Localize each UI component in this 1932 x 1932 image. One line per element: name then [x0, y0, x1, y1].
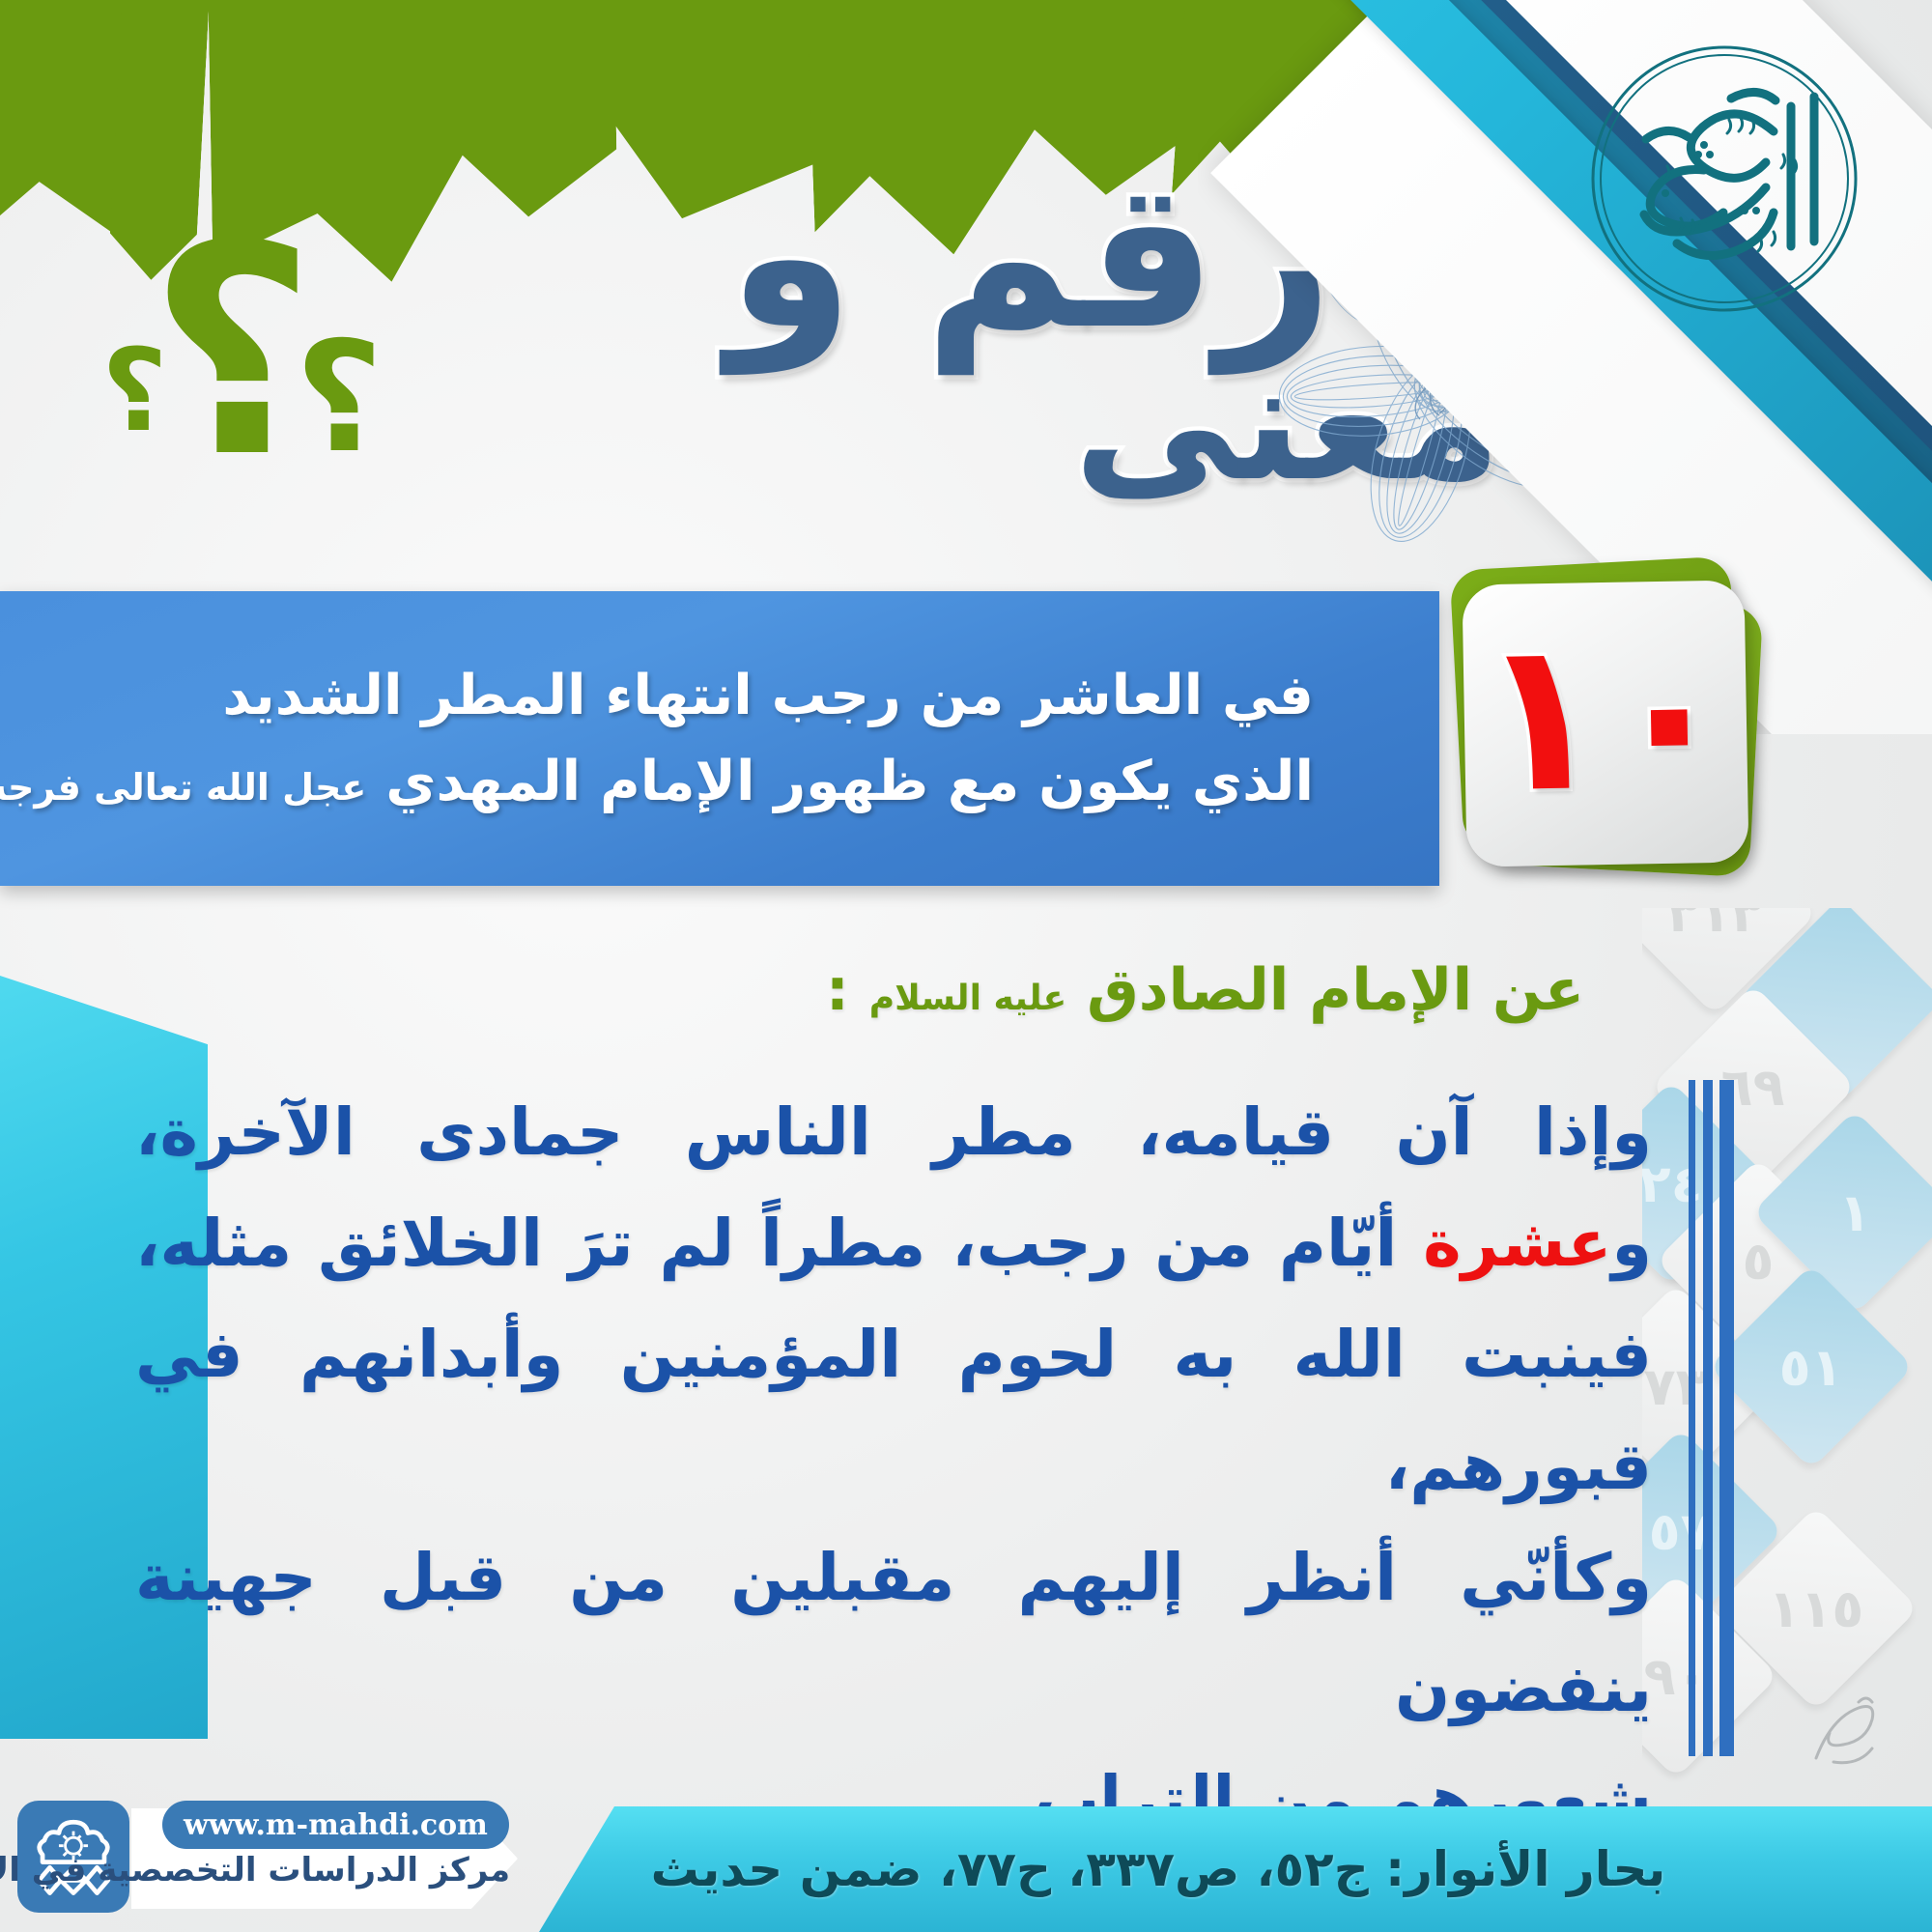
number-badge-card: ١٠ — [1462, 580, 1748, 867]
headline-line-2-text: الذي يكون مع ظهور الإمام المهدي — [385, 750, 1314, 813]
hadith-line: وعشرة أيّام من رجب، مطراً لم ترَ الخلائق… — [135, 1188, 1652, 1299]
hadith-text: وإذا آن قيامه، مطر الناس جمادى الآخرة،وع… — [135, 1077, 1652, 1857]
hadith-line: وكأنّي أنظر إليهم مقبلين من قبل جهينة ين… — [135, 1522, 1652, 1745]
hadith-segment: فينبت الله به لحوم المؤمنين وأبدانهم في … — [135, 1317, 1652, 1503]
source-citation: بحار الأنوار: ج٥٢، ص٣٣٧، ح٧٧، ضمن حديث — [651, 1841, 1666, 1897]
decor-tile-value: ١١٥ — [1769, 1578, 1864, 1639]
accent-bar — [1689, 1080, 1695, 1756]
hadith-highlight-word: عشرة — [1423, 1206, 1611, 1281]
hadith-segment: وكأنّي أنظر إليهم مقبلين من قبل جهينة ين… — [135, 1540, 1652, 1726]
brand-arabic-name: مركز الدراسات التخصصية في الإمام المهدي — [153, 1851, 510, 1889]
corner-calligraphy-mark-icon — [1791, 1681, 1897, 1787]
hadith-segment: وإذا آن قيامه، مطر الناس جمادى الآخرة، — [135, 1094, 1652, 1170]
honorific-mahdi: عجل الله تعالى فرجه — [0, 766, 366, 809]
source-citation-bar: بحار الأنوار: ج٥٢، ص٣٣٧، ح٧٧، ضمن حديث — [539, 1806, 1932, 1932]
question-mark-icon: ؟ — [295, 322, 384, 474]
accent-bar — [1719, 1080, 1734, 1756]
headline-banner: في العاشر من رجب انتهاء المطر الشديد الذ… — [0, 591, 1439, 886]
attribution-colon: : — [826, 956, 849, 1024]
question-mark-decor-group: ؟ ؟ ؟ — [101, 208, 401, 488]
accent-bar — [1703, 1080, 1713, 1756]
hadith-line: وإذا آن قيامه، مطر الناس جمادى الآخرة، — [135, 1077, 1652, 1188]
calligraphy-seal-icon — [1584, 39, 1864, 319]
narrator-attribution: عن الإمام الصادق عليه السلام : — [826, 956, 1584, 1024]
hadith-segment: أيّام من رجب، مطراً لم ترَ الخلائق مثله، — [135, 1206, 1423, 1281]
headline-line-1: في العاشر من رجب انتهاء المطر الشديد — [68, 653, 1314, 738]
hadith-line: فينبت الله به لحوم المؤمنين وأبدانهم في … — [135, 1299, 1652, 1521]
brand-website-url[interactable]: www.m-mahdi.com — [162, 1801, 509, 1849]
hadith-accent-bars — [1680, 1080, 1734, 1756]
honorific-sadiq: عليه السلام — [869, 979, 1067, 1018]
question-mark-icon: ؟ — [101, 333, 167, 447]
headline-line-2: الذي يكون مع ظهور الإمام المهدي عجل الله… — [68, 739, 1314, 824]
decor-tile-value: ٥ — [1743, 1231, 1775, 1292]
question-mark-icon: ؟ — [148, 208, 316, 497]
brand-block[interactable]: www.m-mahdi.com مركز الدراسات التخصصية ف… — [17, 1801, 520, 1915]
number-badge: ١٠ — [1439, 555, 1758, 874]
decor-tile-value: ١ — [1839, 1182, 1871, 1243]
decor-tile-value: ٥١ — [1779, 1337, 1843, 1398]
infographic-poster: ؟ ؟ ؟ رقم و معنى — [0, 0, 1932, 1932]
decor-tile-value: ٣١٣ — [1667, 908, 1763, 944]
hadith-segment: و — [1611, 1206, 1652, 1281]
number-badge-value: ١٠ — [1476, 610, 1734, 823]
attribution-prefix: عن الإمام الصادق — [1087, 956, 1584, 1024]
